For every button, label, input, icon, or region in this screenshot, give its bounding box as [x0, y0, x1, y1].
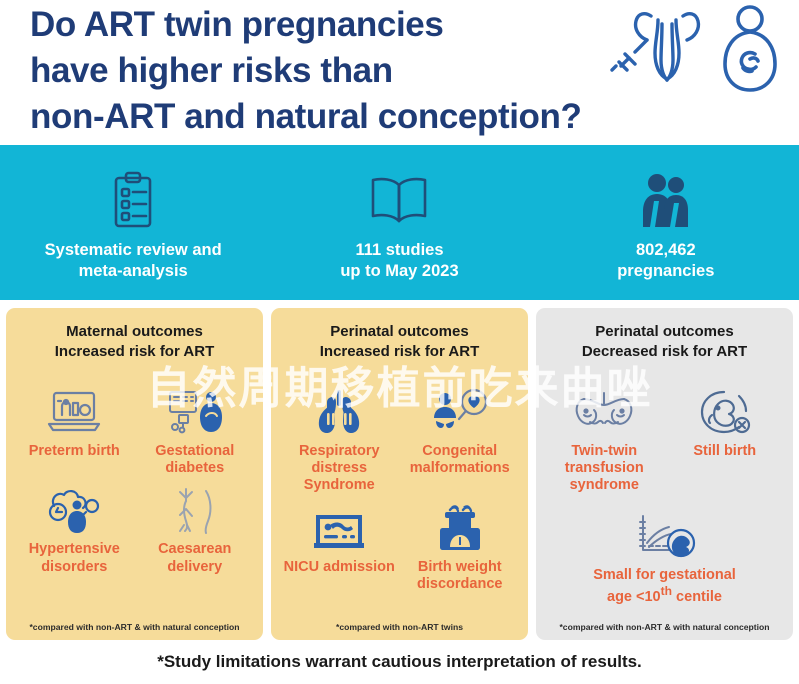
outcome-label: Twin-twin transfusion syndrome — [546, 443, 663, 495]
title-line-2: have higher risks than — [30, 48, 610, 94]
stat-label: 111 studies up to May 2023 — [266, 240, 532, 281]
panel-item-grid: Preterm birth — [14, 367, 255, 623]
incubator-icon — [281, 501, 398, 555]
panel-title: Perinatal outcomes Increased risk for AR… — [279, 322, 520, 363]
baby-magnifier-heart-icon — [402, 385, 519, 439]
ultrasound-monitor-icon — [16, 385, 133, 439]
panel-peripartum-outcomes: Perinatal outcomes Increased risk for AR… — [271, 308, 528, 640]
outcome-label: NICU admission — [281, 559, 398, 576]
outcome-label: Caesarean delivery — [137, 541, 254, 576]
footer-section: *Study limitations warrant cautious inte… — [0, 640, 799, 684]
outcome-label: Birth weight discordance — [402, 559, 519, 594]
panel-maternal-outcomes: Maternal outcomes Increased risk for ART… — [6, 308, 263, 640]
page-title: Do ART twin pregnancies have higher risk… — [30, 2, 610, 141]
stat-label: 802,462 pregnancies — [533, 240, 799, 281]
outcome-item: Small for gestationalage <10th centile — [544, 501, 785, 613]
outcome-item: Still birth — [665, 385, 786, 501]
study-limitation-note: *Study limitations warrant cautious inte… — [157, 652, 642, 672]
baby-scale-icon — [402, 501, 519, 555]
title-line-3: non-ART and natural conception? — [30, 94, 610, 140]
outcome-label: Congenital malformations — [402, 443, 519, 478]
lungs-icon — [281, 385, 398, 439]
header-section: Do ART twin pregnancies have higher risk… — [0, 0, 799, 145]
stat-systematic-review: Systematic review and meta-analysis — [0, 164, 266, 281]
caesarean-scar-icon — [137, 483, 254, 537]
panel-title: Perinatal outcomes Decreased risk for AR… — [544, 322, 785, 363]
outcome-item: Congenital malformations — [400, 385, 521, 501]
panel-footnote: *compared with non-ART & with natural co… — [14, 622, 255, 634]
outcome-label: Respiratory distress Syndrome — [281, 443, 398, 495]
outcome-label: Small for gestationalage <10th centile — [546, 567, 783, 607]
stat-pregnancies-count: 802,462 pregnancies — [533, 164, 799, 281]
header-icon-group — [591, 4, 781, 100]
panel-item-grid: Respiratory distress Syndrome — [279, 367, 520, 623]
pregnant-figure-icon — [719, 4, 781, 101]
uterus-syringe-icon — [605, 4, 713, 99]
outcome-item: Gestational diabetes — [135, 385, 256, 484]
panel-footnote: *compared with non-ART twins — [279, 622, 520, 634]
outcome-label: Gestational diabetes — [137, 443, 254, 478]
clipboard-checklist-icon — [0, 170, 266, 232]
panel-item-grid: Twin-twin transfusion syndrome Still bir… — [544, 367, 785, 623]
title-line-1: Do ART twin pregnancies — [30, 2, 610, 48]
outcome-item: Birth weight discordance — [400, 501, 521, 600]
stat-studies-count: 111 studies up to May 2023 — [266, 164, 532, 281]
stats-band: Systematic review and meta-analysis 111 … — [0, 145, 799, 300]
stillbirth-cross-icon — [667, 385, 784, 439]
outcome-label: Still birth — [667, 443, 784, 460]
outcome-item: Hypertensive disorders — [14, 483, 135, 582]
panel-footnote: *compared with non-ART & with natural co… — [544, 622, 785, 634]
outcome-label: Preterm birth — [16, 443, 133, 460]
open-book-icon — [266, 170, 532, 232]
outcome-item: Preterm birth — [14, 385, 135, 484]
two-people-icon — [533, 170, 799, 232]
outcome-item: NICU admission — [279, 501, 400, 600]
growth-chart-fetus-icon — [546, 509, 783, 563]
blood-pressure-pregnant-icon — [16, 483, 133, 537]
panel-title: Maternal outcomes Increased risk for ART — [14, 322, 255, 363]
outcome-item: Twin-twin transfusion syndrome — [544, 385, 665, 501]
panel-perinatal-outcomes: Perinatal outcomes Decreased risk for AR… — [536, 308, 793, 640]
outcome-item: Caesarean delivery — [135, 483, 256, 582]
stat-label: Systematic review and meta-analysis — [0, 240, 266, 281]
outcome-item: Respiratory distress Syndrome — [279, 385, 400, 501]
outcome-panels: Maternal outcomes Increased risk for ART… — [0, 300, 799, 640]
glucose-test-pregnant-icon — [137, 385, 254, 439]
twin-fetuses-icon — [546, 385, 663, 439]
outcome-label: Hypertensive disorders — [16, 541, 133, 576]
